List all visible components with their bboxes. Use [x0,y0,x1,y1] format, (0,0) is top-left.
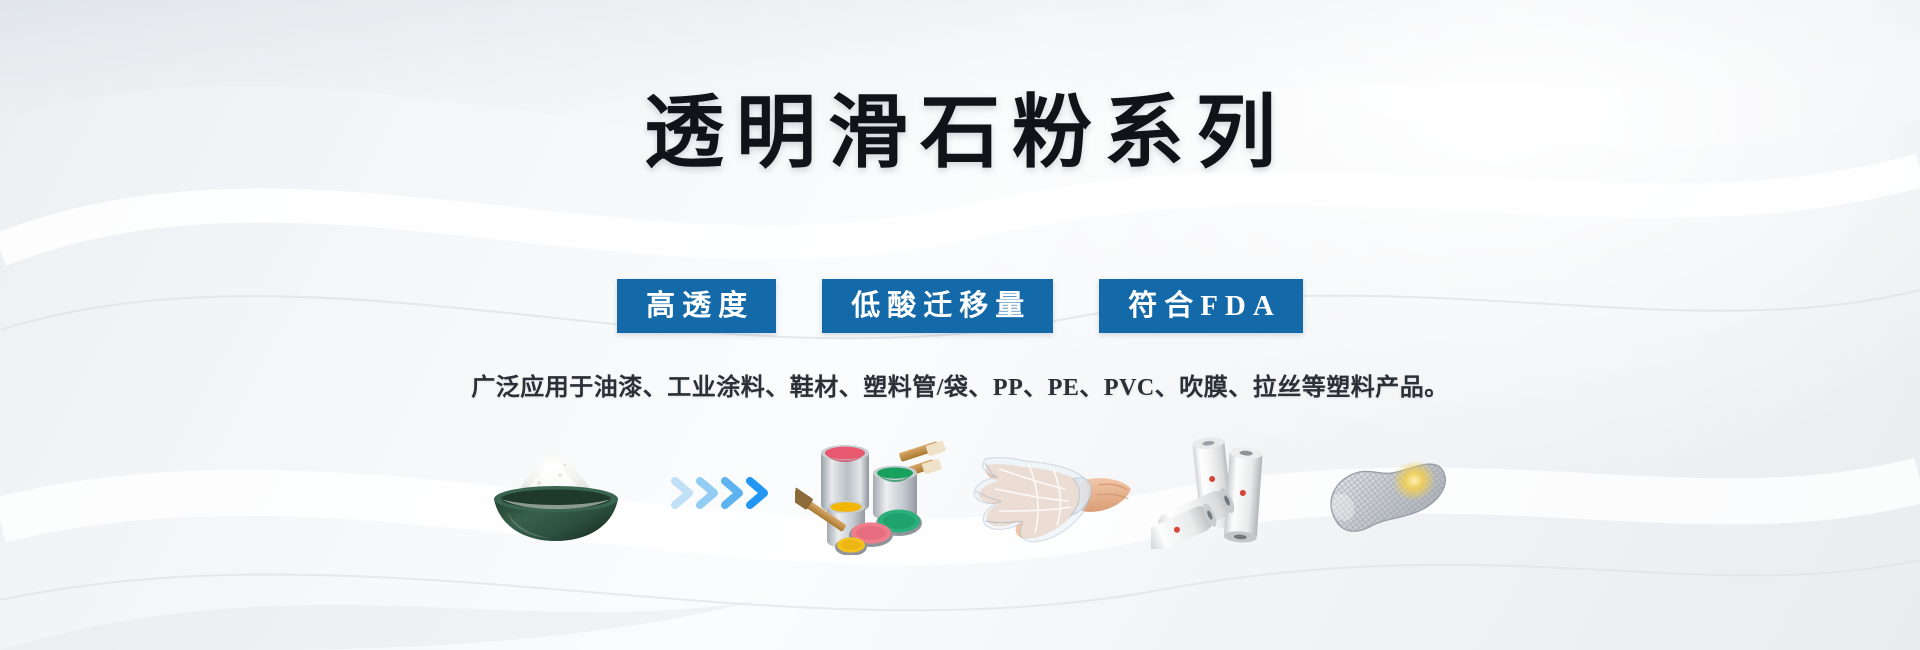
chevron-right-icon [669,473,777,513]
feature-badge-list: 高透度 低酸迁移量 符合FDA [0,279,1920,333]
film-rolls-image [1151,437,1301,554]
powder-bowl-icon [461,437,651,549]
promo-banner: 透明滑石粉系列 高透度 低酸迁移量 符合FDA 广泛应用于油漆、工业涂料、鞋材、… [0,0,1920,650]
film-rolls-icon [1151,437,1301,549]
status-badge-fda-compliant: 符合FDA [1099,279,1303,333]
talc-powder-bowl-image [461,437,651,554]
product-application-strip [0,420,1920,570]
shoe-sole-icon [1319,441,1459,545]
shoe-sole-image [1319,441,1459,550]
status-badge-high-transparency: 高透度 [617,279,776,333]
plastic-glove-icon [973,441,1133,545]
paint-cans-icon [795,431,955,555]
plastic-glove-image [973,441,1133,550]
paint-cans-image [795,431,955,560]
status-badge-low-acid-migration: 低酸迁移量 [822,279,1053,333]
page-title: 透明滑石粉系列 [0,86,1920,182]
application-description: 广泛应用于油漆、工业涂料、鞋材、塑料管/袋、PP、PE、PVC、吹膜、拉丝等塑料… [0,370,1920,406]
process-arrows [669,473,777,518]
